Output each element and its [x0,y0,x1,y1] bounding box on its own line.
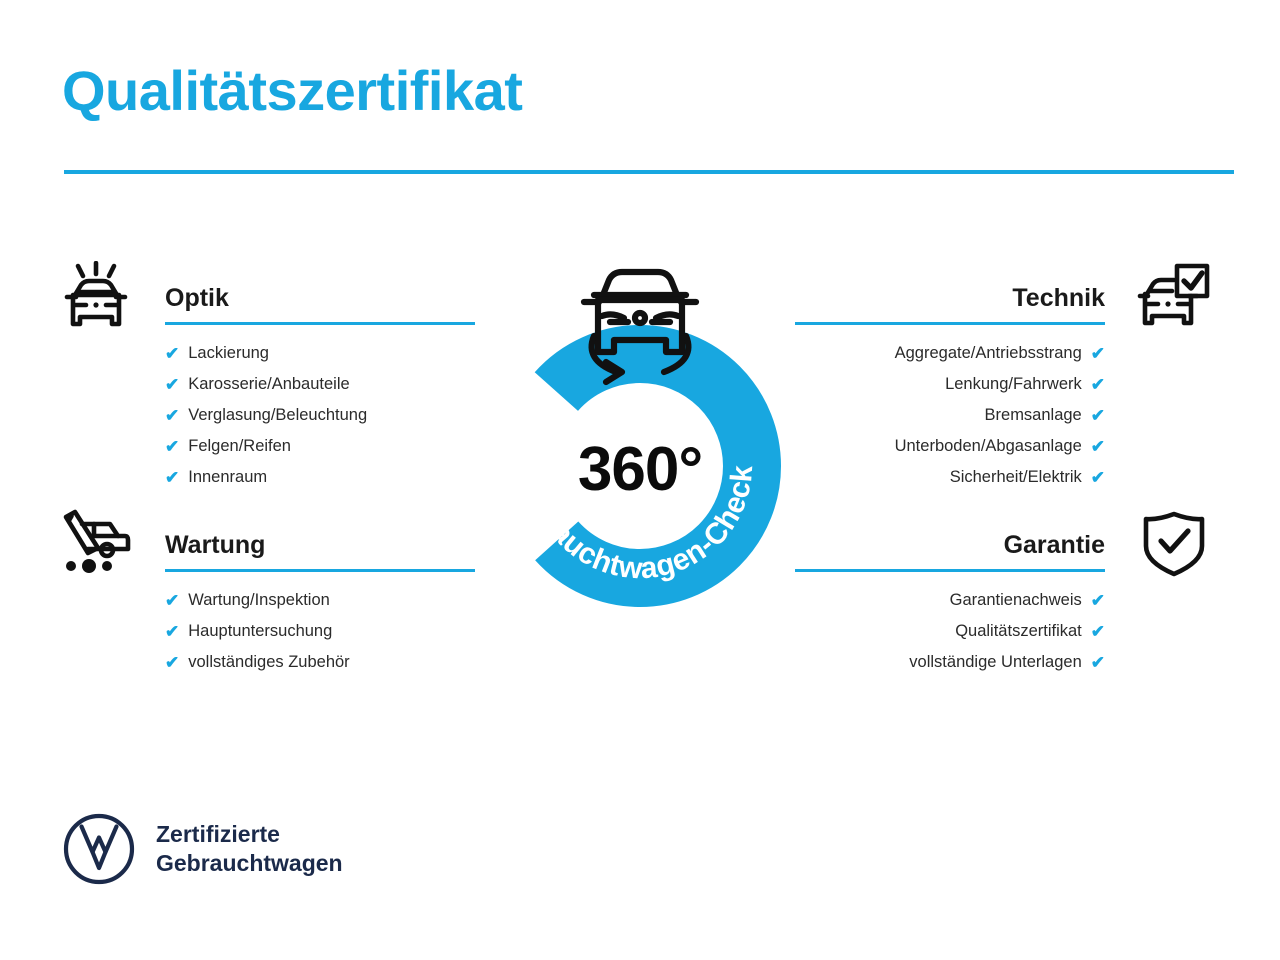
list-item: Bremsanlage ✔ [795,407,1105,438]
header-divider [64,170,1234,174]
car-front-shine-icon [55,258,137,336]
list-item-label: Garantienachweis [950,592,1082,609]
list-item-label: Lackierung [188,345,269,362]
badge-360-gebrauchtwagen-check: Gebrauchtwagen-Check [466,248,814,638]
quality-certificate-page: Qualitätszertifikat [0,0,1280,960]
section-rule-optik [165,322,475,325]
check-icon: ✔ [1091,623,1105,640]
list-item-label: Qualitätszertifikat [955,623,1082,640]
checklist-garantie: Garantienachweis ✔ Qualitätszertifikat ✔… [795,592,1105,685]
section-wartung: Wartung ✔ Wartung/Inspektion ✔ Hauptunte… [55,505,475,685]
list-item: Garantienachweis ✔ [795,592,1105,623]
check-icon: ✔ [165,438,179,455]
list-item: ✔ Lackierung [165,345,475,376]
vw-logo-icon [62,812,136,886]
list-item-label: Felgen/Reifen [188,438,291,455]
list-item-label: Lenkung/Fahrwerk [945,376,1082,393]
list-item-label: Innenraum [188,469,267,486]
page-title: Qualitätszertifikat [62,62,522,121]
list-item: ✔ vollständiges Zubehör [165,654,475,685]
shield-check-icon [1133,505,1215,583]
check-icon: ✔ [165,654,179,671]
list-item-label: Sicherheit/Elektrik [950,469,1082,486]
car-service-pencil-icon [55,505,137,583]
check-icon: ✔ [1091,438,1105,455]
list-item: ✔ Hauptuntersuchung [165,623,475,654]
section-rule-garantie [795,569,1105,572]
section-garantie: Garantie Garantienachweis ✔ Qualitätszer… [795,505,1215,685]
vw-certified-lockup: Zertifizierte Gebrauchtwagen [62,812,343,886]
list-item: ✔ Verglasung/Beleuchtung [165,407,475,438]
footer-line-2: Gebrauchtwagen [156,849,343,878]
list-item: Aggregate/Antriebsstrang ✔ [795,345,1105,376]
footer-text: Zertifizierte Gebrauchtwagen [156,820,343,879]
section-heading-optik: Optik [165,286,475,322]
section-heading-technik: Technik [795,286,1105,322]
list-item: ✔ Karosserie/Anbauteile [165,376,475,407]
check-icon: ✔ [1091,376,1105,393]
section-rule-wartung [165,569,475,572]
check-icon: ✔ [1091,592,1105,609]
footer-line-1: Zertifizierte [156,820,343,849]
section-optik: Optik ✔ Lackierung ✔ Karosserie/Anbautei… [55,258,475,500]
check-icon: ✔ [165,376,179,393]
check-icon: ✔ [1091,469,1105,486]
car-front-checkbox-icon [1133,258,1215,336]
section-technik: Technik Aggregate/Antriebsstrang ✔ Lenku… [795,258,1215,500]
check-icon: ✔ [1091,407,1105,424]
check-icon: ✔ [1091,345,1105,362]
check-icon: ✔ [165,469,179,486]
list-item-label: Bremsanlage [985,407,1082,424]
list-item: ✔ Wartung/Inspektion [165,592,475,623]
check-icon: ✔ [165,623,179,640]
section-heading-wartung: Wartung [165,533,475,569]
list-item-label: vollständige Unterlagen [909,654,1081,671]
checklist-optik: ✔ Lackierung ✔ Karosserie/Anbauteile ✔ V… [165,345,475,500]
check-icon: ✔ [1091,654,1105,671]
list-item-label: Wartung/Inspektion [188,592,330,609]
section-rule-technik [795,322,1105,325]
list-item: Lenkung/Fahrwerk ✔ [795,376,1105,407]
list-item: ✔ Felgen/Reifen [165,438,475,469]
list-item: Sicherheit/Elektrik ✔ [795,469,1105,500]
badge-center-label: 360° [466,439,814,501]
list-item: ✔ Innenraum [165,469,475,500]
list-item: Qualitätszertifikat ✔ [795,623,1105,654]
checklist-technik: Aggregate/Antriebsstrang ✔ Lenkung/Fahrw… [795,345,1105,500]
list-item-label: Karosserie/Anbauteile [188,376,349,393]
check-icon: ✔ [165,592,179,609]
list-item-label: vollständiges Zubehör [188,654,349,671]
list-item-label: Hauptuntersuchung [188,623,332,640]
list-item-label: Verglasung/Beleuchtung [188,407,367,424]
list-item: Unterboden/Abgasanlage ✔ [795,438,1105,469]
list-item-label: Aggregate/Antriebsstrang [895,345,1082,362]
check-icon: ✔ [165,345,179,362]
checklist-wartung: ✔ Wartung/Inspektion ✔ Hauptuntersuchung… [165,592,475,685]
list-item-label: Unterboden/Abgasanlage [895,438,1082,455]
section-heading-garantie: Garantie [795,533,1105,569]
check-icon: ✔ [165,407,179,424]
list-item: vollständige Unterlagen ✔ [795,654,1105,685]
